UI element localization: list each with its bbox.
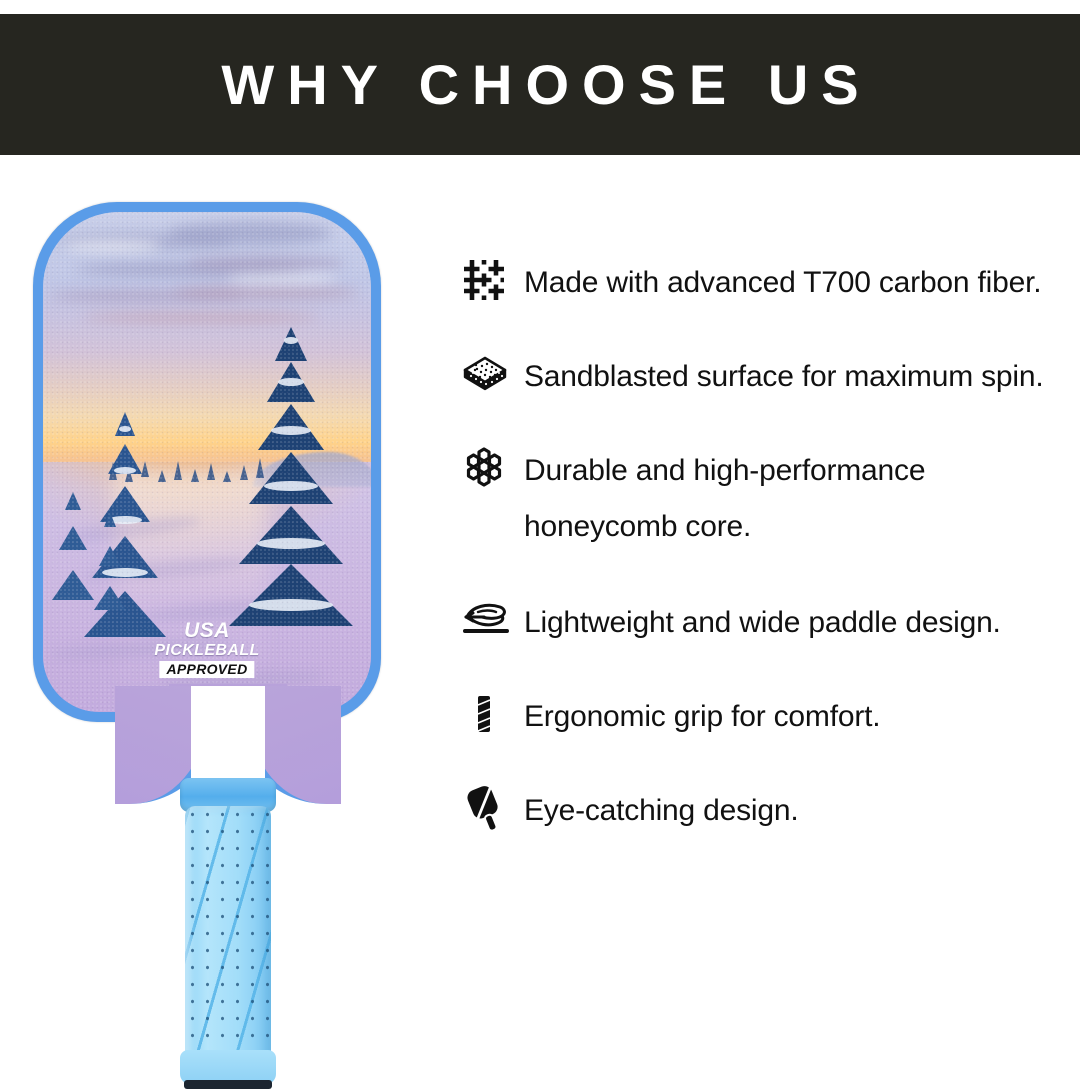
feature-text: Made with advanced T700 carbon fiber. — [524, 255, 1041, 311]
feather-lightweight-icon — [462, 599, 524, 641]
feature-text-line1: Durable and high-performance — [524, 443, 925, 499]
feature-text-line2: honeycomb core. — [524, 499, 925, 555]
paddle-grip — [185, 806, 271, 1078]
paddle-face-edge-guard: USA PICKLEBALL APPROVED — [33, 202, 381, 722]
grip-perforations — [185, 806, 271, 1078]
artwork-tree-small-b — [89, 512, 132, 632]
badge-line-usa: USA — [154, 620, 259, 641]
product-image-paddle: USA PICKLEBALL APPROVED — [28, 200, 428, 1060]
feature-list: Made with advanced T700 carbon fiber. — [462, 255, 1080, 877]
feature-text: Lightweight and wide paddle design. — [524, 595, 1001, 651]
feature-item: Sandblasted surface for maximum spin. — [462, 349, 1080, 405]
feature-text-line1: Lightweight and wide paddle design. — [524, 606, 1001, 639]
feature-item: Durable and high-performance honeycomb c… — [462, 443, 1080, 555]
feature-text: Eye-catching design. — [524, 783, 799, 839]
usa-pickleball-approved-badge: USA PICKLEBALL APPROVED — [154, 620, 259, 678]
feature-item: Lightweight and wide paddle design. — [462, 595, 1080, 651]
feature-text: Sandblasted surface for maximum spin. — [524, 349, 1044, 405]
badge-line-pickleball: PICKLEBALL — [154, 643, 259, 659]
sandblasted-surface-icon — [462, 353, 524, 395]
header-banner: WHY CHOOSE US — [0, 14, 1080, 155]
feature-text-line1: Eye-catching design. — [524, 794, 799, 827]
artwork-tree-large — [217, 327, 365, 647]
honeycomb-core-icon — [462, 447, 524, 489]
paddle-face-artwork: USA PICKLEBALL APPROVED — [43, 212, 371, 712]
carbon-fiber-weave-icon — [462, 259, 524, 301]
feature-text-line1: Ergonomic grip for comfort. — [524, 700, 880, 733]
paddle-silhouette-icon — [462, 787, 524, 829]
grip-butt-cap — [184, 1080, 272, 1089]
grip-flare — [180, 1050, 276, 1084]
feature-text: Ergonomic grip for comfort. — [524, 689, 880, 745]
badge-line-approved: APPROVED — [160, 661, 255, 678]
feature-item: Made with advanced T700 carbon fiber. — [462, 255, 1080, 311]
main-content: USA PICKLEBALL APPROVED — [0, 155, 1080, 1080]
feature-text: Durable and high-performance honeycomb c… — [524, 443, 925, 555]
feature-item: Ergonomic grip for comfort. — [462, 689, 1080, 745]
page-title: WHY CHOOSE US — [208, 52, 871, 117]
grip-handle-icon — [462, 693, 524, 735]
feature-text-line1: Sandblasted surface for maximum spin. — [524, 360, 1044, 393]
feature-text-line1: Made with advanced T700 carbon fiber. — [524, 266, 1041, 299]
feature-item: Eye-catching design. — [462, 783, 1080, 839]
